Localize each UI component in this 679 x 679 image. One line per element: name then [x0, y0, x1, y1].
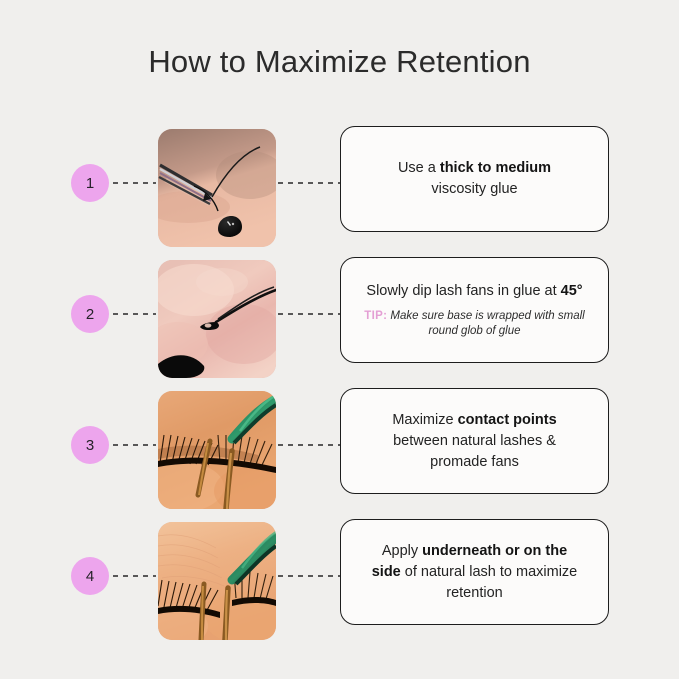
- lash-applied-under-natural-lash-icon: [158, 522, 276, 640]
- connector-dash-left: [113, 313, 156, 315]
- connector-dash-right: [278, 444, 340, 446]
- step-tip: TIP: Make sure base is wrapped with smal…: [351, 309, 598, 340]
- connector-dash-right: [278, 182, 340, 184]
- step-image-thumbnail: [158, 522, 276, 640]
- connector-dash-left: [113, 575, 156, 577]
- step-number-label: 1: [86, 175, 94, 192]
- step-image-thumbnail: [158, 260, 276, 378]
- text-emphasis: side: [372, 564, 401, 580]
- text-segment: Apply: [382, 543, 422, 559]
- step-number-badge: 4: [71, 557, 109, 595]
- text-segment: Maximize: [392, 412, 457, 428]
- step-number-badge: 3: [71, 426, 109, 464]
- step-text: Maximize contact points between natural …: [392, 410, 556, 473]
- text-segment: between natural lashes &: [393, 433, 556, 449]
- step-number-badge: 1: [71, 164, 109, 202]
- step-image-thumbnail: [158, 129, 276, 247]
- connector-dash-right: [278, 575, 340, 577]
- page-title: How to Maximize Retention: [0, 44, 679, 80]
- green-tweezers-applying-lash-fan-icon: [158, 391, 276, 509]
- step-text: Use a thick to medium viscosity glue: [398, 158, 551, 200]
- step-text-card: Apply underneath or on the side of natur…: [340, 519, 609, 625]
- text-emphasis: underneath or on the: [422, 543, 567, 559]
- text-emphasis: thick to medium: [440, 160, 551, 176]
- lash-fan-dipped-in-glue-closeup-icon: [158, 260, 276, 378]
- tip-label: TIP:: [364, 310, 387, 322]
- text-emphasis: 45°: [561, 283, 583, 299]
- connector-dash-left: [113, 182, 156, 184]
- step-text-card: Maximize contact points between natural …: [340, 388, 609, 494]
- text-segment: Slowly dip lash fans in glue at: [366, 283, 560, 299]
- connector-dash-right: [278, 313, 340, 315]
- text-segment: viscosity glue: [431, 181, 517, 197]
- connector-dash-left: [113, 444, 156, 446]
- step-image-thumbnail: [158, 391, 276, 509]
- steps-list: 1: [0, 118, 679, 642]
- text-segment: promade fans: [430, 454, 519, 470]
- step-text: Slowly dip lash fans in glue at 45°: [366, 281, 582, 302]
- text-segment: Use a: [398, 160, 440, 176]
- text-segment: of natural lash to maximize: [401, 564, 578, 580]
- step-row: 2: [0, 249, 679, 379]
- step-text-card: Use a thick to medium viscosity glue: [340, 126, 609, 232]
- step-row: 3: [0, 380, 679, 510]
- tweezers-holding-lash-over-glue-drop-icon: [158, 129, 276, 247]
- step-number-label: 3: [86, 437, 94, 454]
- step-row: 4: [0, 511, 679, 641]
- tip-text: Make sure base is wrapped with small rou…: [390, 310, 584, 338]
- step-text: Apply underneath or on the side of natur…: [372, 541, 578, 604]
- text-segment: retention: [446, 585, 502, 601]
- text-emphasis: contact points: [458, 412, 557, 428]
- step-number-label: 4: [86, 568, 94, 585]
- step-number-badge: 2: [71, 295, 109, 333]
- step-text-card: Slowly dip lash fans in glue at 45° TIP:…: [340, 257, 609, 363]
- step-row: 1: [0, 118, 679, 248]
- step-number-label: 2: [86, 306, 94, 323]
